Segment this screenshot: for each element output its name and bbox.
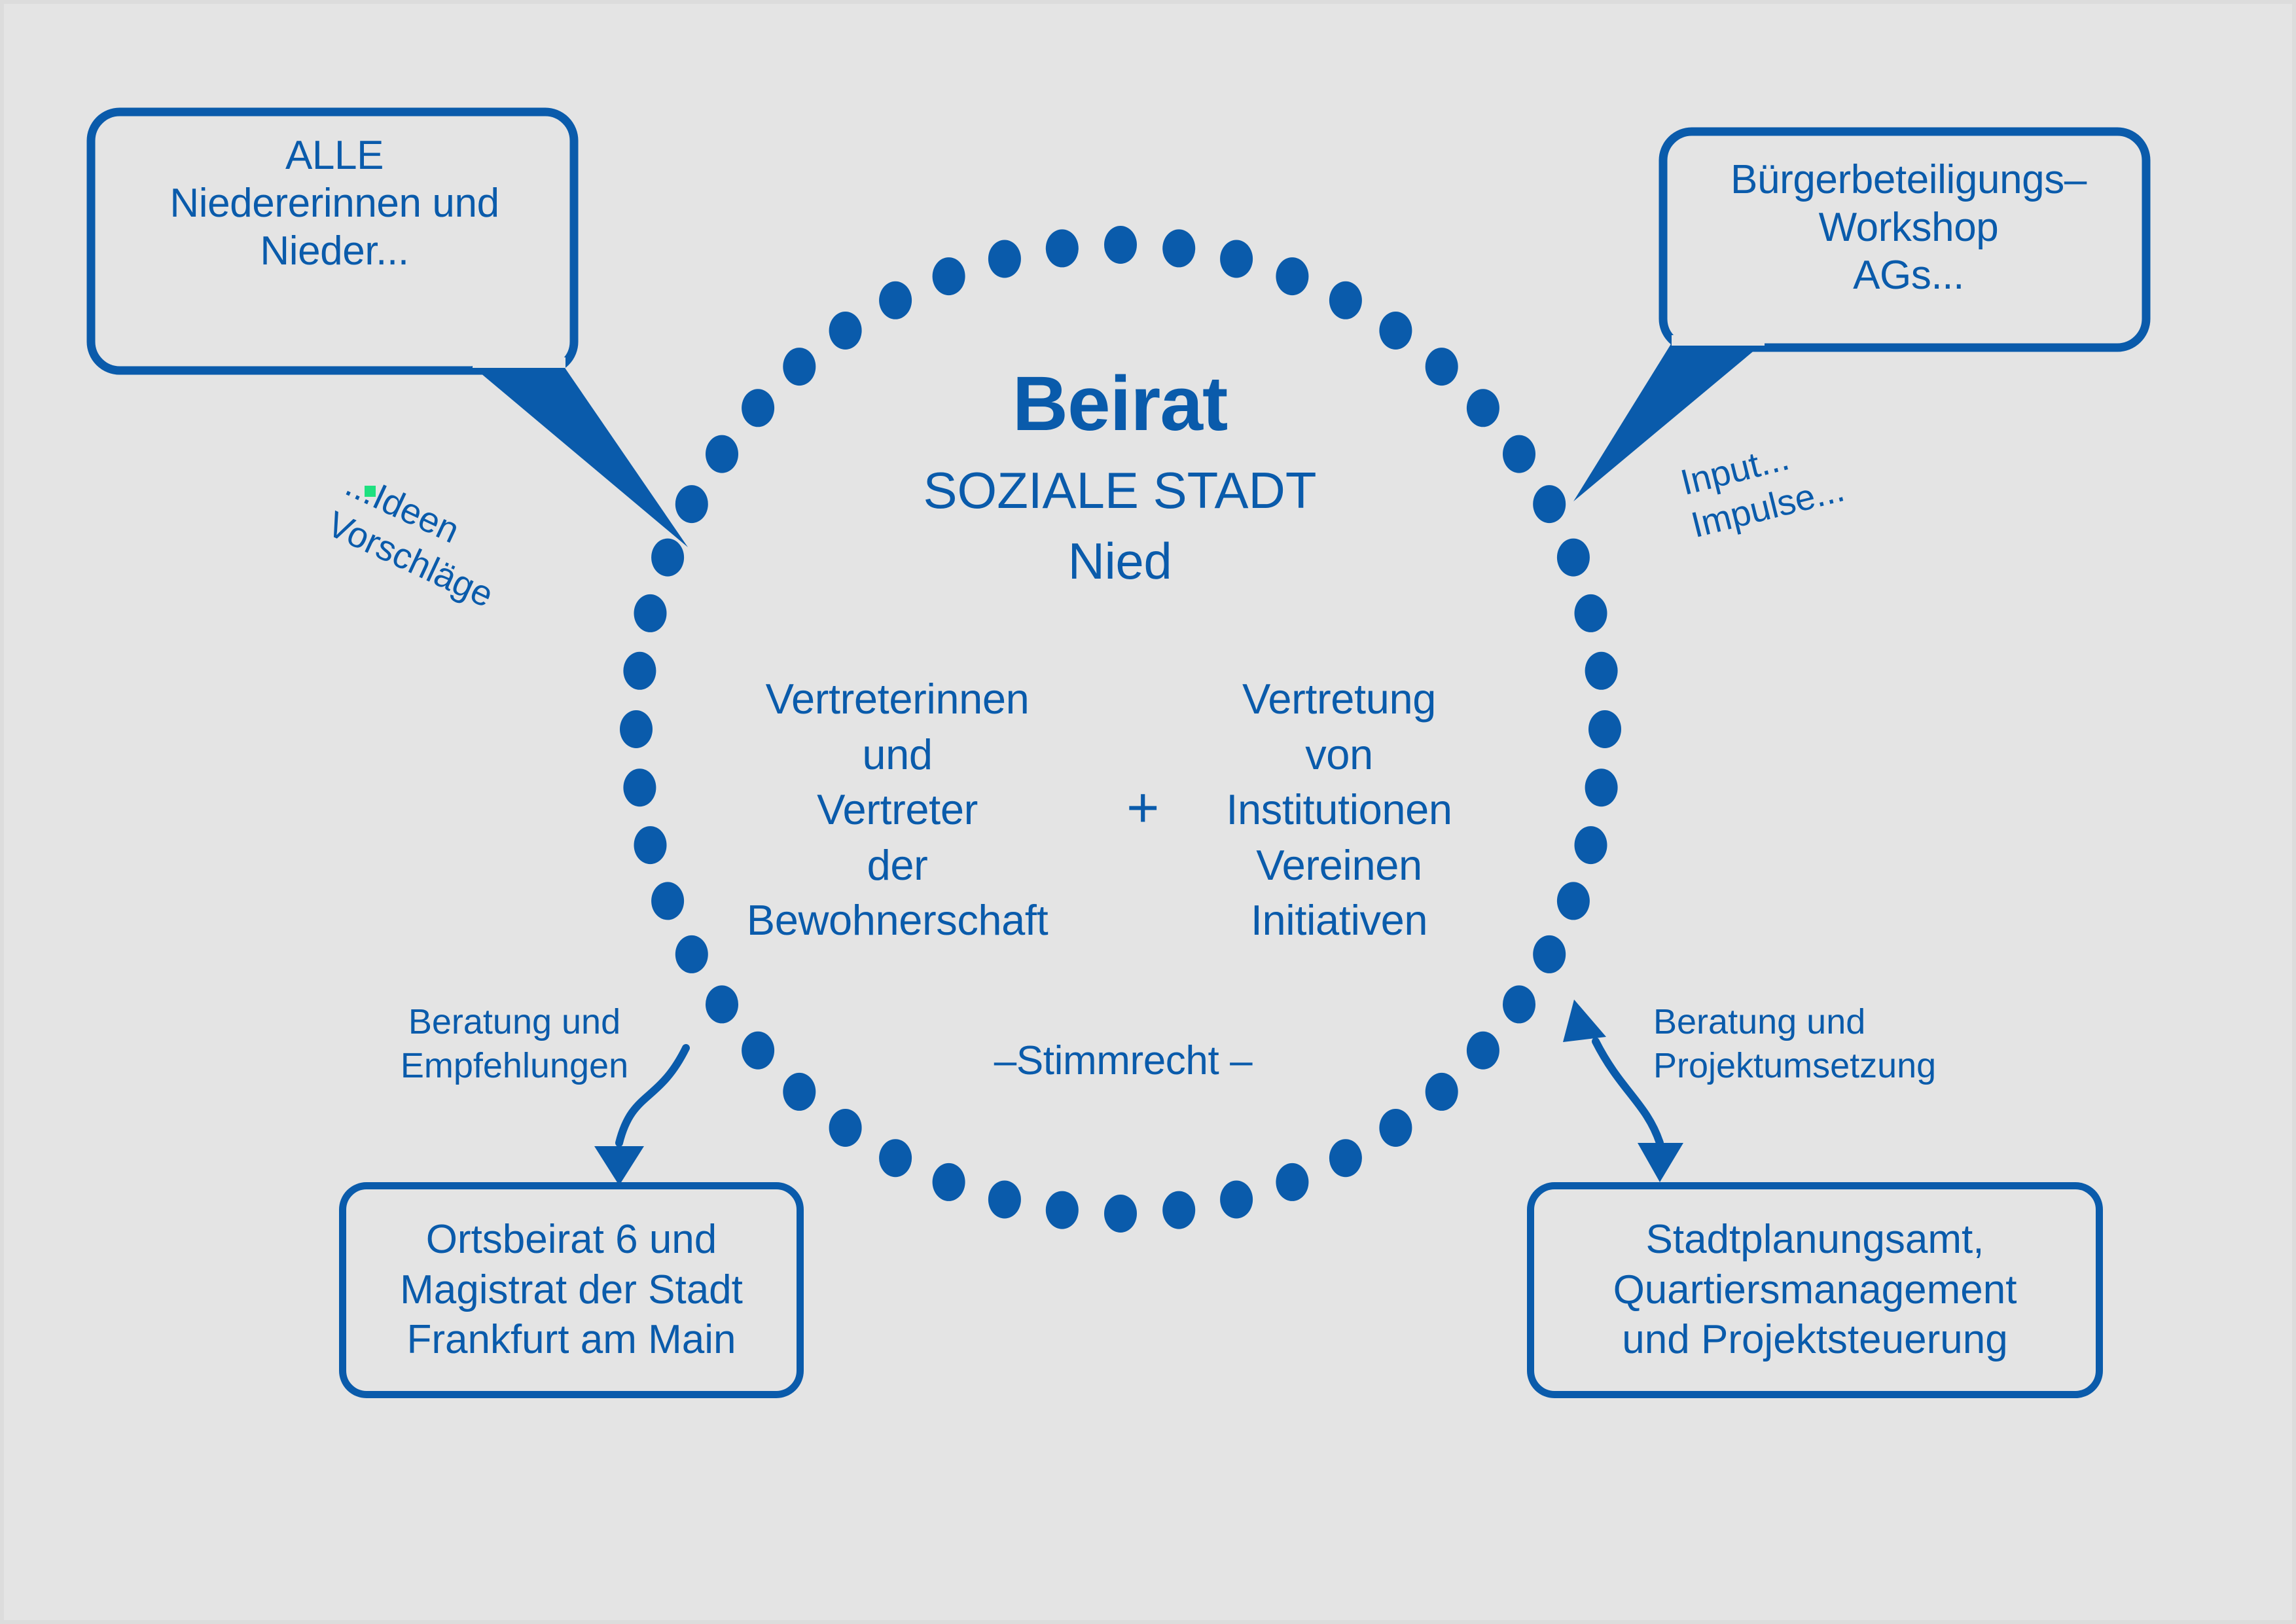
circle-dot	[1575, 826, 1607, 864]
circle-dot	[1329, 1139, 1362, 1177]
box-ortsbeirat[interactable]: Ortsbeirat 6 und Magistrat der Stadt Fra…	[339, 1182, 804, 1398]
circle-dot	[1329, 281, 1362, 319]
circle-dot	[1104, 1195, 1137, 1233]
annotation-advice-right: Beratung und Projektumsetzung	[1653, 1000, 1994, 1088]
circle-dot	[988, 240, 1021, 278]
circle-dot	[1379, 312, 1412, 350]
circle-dot	[1557, 882, 1590, 920]
circle-dot	[1046, 1191, 1079, 1229]
box-stadtplanungsamt-label: Stadtplanungsamt, Quartiersmanagement un…	[1613, 1215, 2017, 1366]
circle-dot	[623, 768, 656, 806]
circle-dot	[1503, 985, 1535, 1023]
box-stadtplanungsamt[interactable]: Stadtplanungsamt, Quartiersmanagement un…	[1527, 1182, 2103, 1398]
circle-dot	[634, 826, 667, 864]
voting-rights-note: –Stimmrecht –	[920, 1038, 1326, 1083]
circle-dot	[706, 435, 738, 473]
circle-dot	[1426, 1073, 1458, 1111]
circle-dot	[1220, 1181, 1253, 1219]
circle-dot	[1162, 1191, 1195, 1229]
circle-dot	[829, 312, 862, 350]
circle-dot	[623, 652, 656, 690]
circle-dot	[1220, 240, 1253, 278]
subtitle-line-2: Nied	[793, 533, 1447, 590]
arrow-down-icon	[594, 1146, 644, 1185]
circle-dot	[988, 1181, 1021, 1219]
circle-dot	[879, 1139, 912, 1177]
circle-dot	[1276, 257, 1308, 295]
circle-dot	[620, 710, 653, 748]
diagram-canvas: ALLE Niedererinnen und Nieder... Bürgerb…	[0, 0, 2296, 1624]
box-ortsbeirat-label: Ortsbeirat 6 und Magistrat der Stadt Fra…	[400, 1215, 743, 1366]
circle-dot	[706, 985, 738, 1023]
circle-dot	[1104, 226, 1137, 264]
circle-dot	[1533, 485, 1566, 523]
circle-dot	[1276, 1163, 1308, 1201]
circle-dot	[651, 539, 684, 577]
subtitle-line-1: SOZIALE STADT	[793, 462, 1447, 519]
annotation-advice-left: Beratung und Empfehlungen	[377, 1000, 652, 1088]
circle-dot	[1379, 1109, 1412, 1147]
green-marker-dot	[365, 486, 376, 497]
circle-dot	[1533, 935, 1566, 973]
circle-dot	[1467, 389, 1499, 427]
speech-bubble-left-label: ALLE Niedererinnen und Nieder...	[96, 132, 573, 275]
members-column-right: Vertretung von Institutionen Vereinen In…	[1175, 672, 1503, 948]
circle-dot	[829, 1109, 862, 1147]
arrow-down-icon	[1638, 1143, 1683, 1182]
arrow-up-icon	[1563, 1000, 1606, 1042]
circle-dot	[1162, 229, 1195, 267]
circle-dot	[879, 281, 912, 319]
circle-dot	[1503, 435, 1535, 473]
circle-dot	[1557, 539, 1590, 577]
circle-dot	[933, 257, 965, 295]
page-title: Beirat	[793, 361, 1447, 447]
circle-dot	[742, 1032, 774, 1070]
circle-dot	[1575, 594, 1607, 632]
speech-bubble-left-tail	[472, 366, 688, 547]
circle-dot	[1585, 652, 1618, 690]
circle-dot	[1585, 768, 1618, 806]
speech-bubble-right-tail-join	[1672, 335, 1765, 346]
circle-dot	[933, 1163, 965, 1201]
circle-dot	[1046, 229, 1079, 267]
circle-dot	[651, 882, 684, 920]
circle-dot	[783, 1073, 816, 1111]
circle-dot	[1467, 1032, 1499, 1070]
members-column-left: Vertreterinnen und Vertreter der Bewohne…	[688, 672, 1107, 948]
circle-dot	[675, 485, 708, 523]
circle-dot	[742, 389, 774, 427]
circle-dot	[1588, 710, 1621, 748]
speech-bubble-left-tail-join	[473, 357, 565, 368]
speech-bubble-right-label: Bürgerbeteiligungs– Workshop AGs...	[1670, 156, 2147, 299]
